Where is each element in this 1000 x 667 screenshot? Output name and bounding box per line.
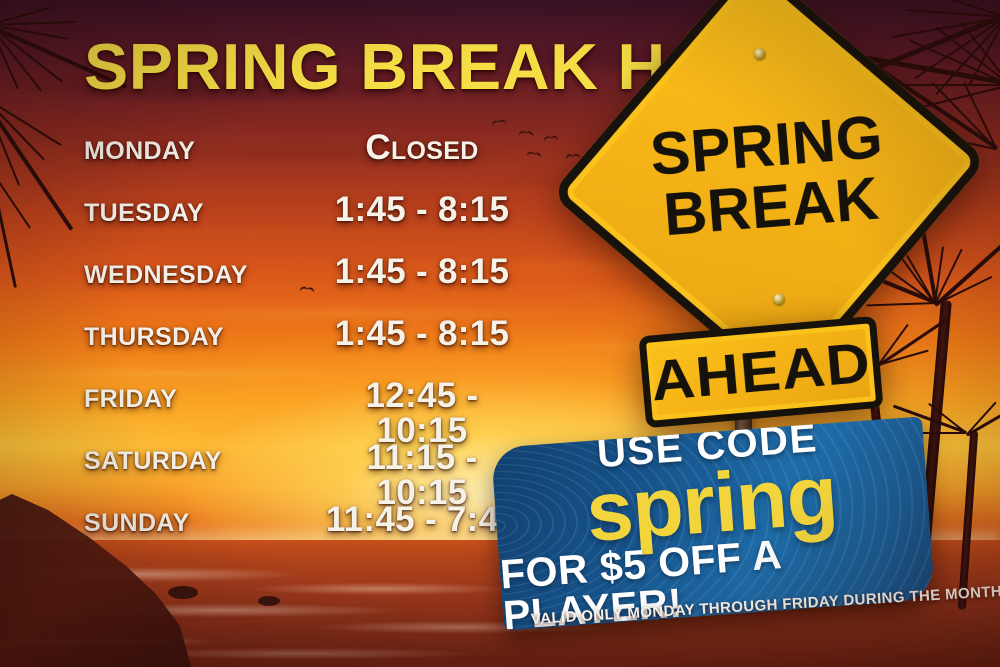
schedule-row: Thursday 1:45 - 8:15: [84, 316, 524, 378]
spring-break-hours-poster: SPRING BREAK HOURS Monday Closed Tuesday…: [0, 0, 1000, 667]
schedule-time: 1:45 - 8:15: [320, 192, 524, 227]
schedule-day: Sunday: [84, 502, 320, 537]
schedule-day: Wednesday: [84, 254, 320, 289]
schedule-row: Wednesday 1:45 - 8:15: [84, 254, 524, 316]
bird-icon: [527, 151, 542, 160]
schedule-day: Thursday: [84, 316, 320, 351]
hours-schedule: Monday Closed Tuesday 1:45 - 8:15 Wednes…: [84, 130, 524, 564]
schedule-day: Friday: [84, 378, 320, 413]
schedule-day: Saturday: [84, 440, 320, 475]
schedule-row: Sunday 11:45 - 7:45: [84, 502, 524, 564]
rock: [258, 596, 280, 606]
diamond-sign-line-2: BREAK: [661, 170, 881, 246]
spring-break-diamond-sign: SPRING BREAK: [602, 10, 935, 343]
schedule-row: Monday Closed: [84, 130, 524, 192]
schedule-row: Saturday 11:15 - 10:15: [84, 440, 524, 502]
schedule-day: Tuesday: [84, 192, 320, 227]
bird-icon: [544, 135, 559, 143]
schedule-time: 1:45 - 8:15: [320, 254, 524, 289]
bird-icon: [492, 119, 507, 128]
schedule-time: Closed: [320, 130, 524, 165]
schedule-row: Tuesday 1:45 - 8:15: [84, 192, 524, 254]
schedule-row: Friday 12:45 - 10:15: [84, 378, 524, 440]
ahead-sign-label: AHEAD: [649, 334, 873, 410]
schedule-time: 1:45 - 8:15: [320, 316, 524, 351]
rock: [168, 586, 198, 599]
schedule-day: Monday: [84, 130, 320, 165]
diamond-sign-text: SPRING BREAK: [602, 10, 935, 343]
schedule-time: 11:45 - 7:45: [320, 502, 524, 537]
